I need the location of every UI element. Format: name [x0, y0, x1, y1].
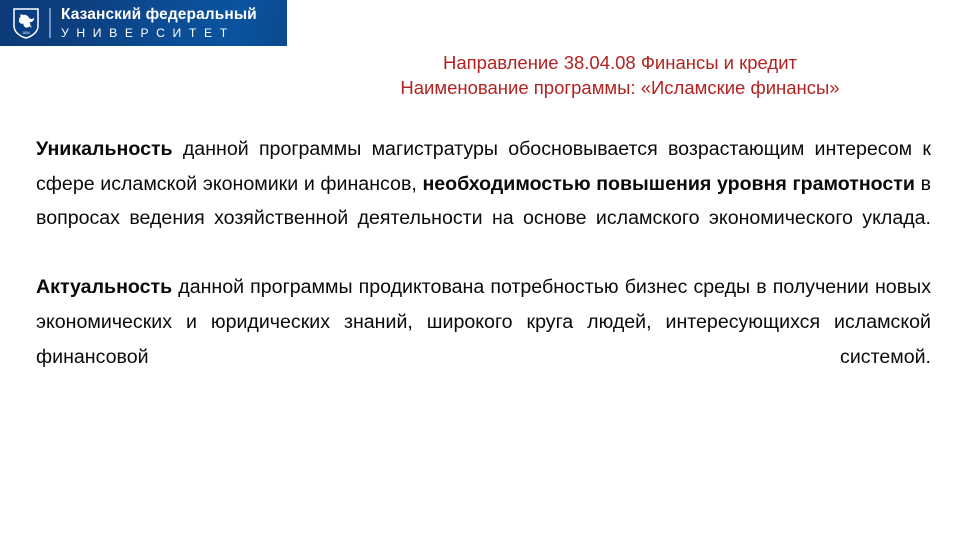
header-program-direction: Направление 38.04.08 Финансы и кредит	[300, 50, 940, 75]
presentation-slide: 1804 Казанский федеральный УНИВЕРСИТЕТ Н…	[0, 0, 960, 540]
header-program-name: Наименование программы: «Исламские финан…	[300, 75, 940, 100]
uniqueness-emphasis-term: необходимостью повышения уровня грамотно…	[422, 173, 915, 195]
logo-title-line1: Казанский федеральный	[61, 7, 257, 23]
logo-title-line2: УНИВЕРСИТЕТ	[61, 27, 257, 39]
kfu-shield-crest-icon: 1804	[13, 8, 39, 39]
university-logo-banner: 1804 Казанский федеральный УНИВЕРСИТЕТ	[0, 0, 287, 46]
paragraph-uniqueness: Уникальность данной программы магистрату…	[36, 132, 931, 270]
crest-year-label: 1804	[22, 31, 30, 35]
relevance-lead-term: Актуальность	[36, 276, 172, 298]
logo-wordmark: Казанский федеральный УНИВЕРСИТЕТ	[61, 7, 257, 40]
uniqueness-lead-term: Уникальность	[36, 138, 173, 160]
slide-body-text: Уникальность данной программы магистрату…	[36, 132, 931, 409]
slide-header: Направление 38.04.08 Финансы и кредит На…	[300, 50, 940, 100]
paragraph-relevance: Актуальность данной программы продиктова…	[36, 270, 931, 408]
logo-divider	[49, 8, 51, 38]
